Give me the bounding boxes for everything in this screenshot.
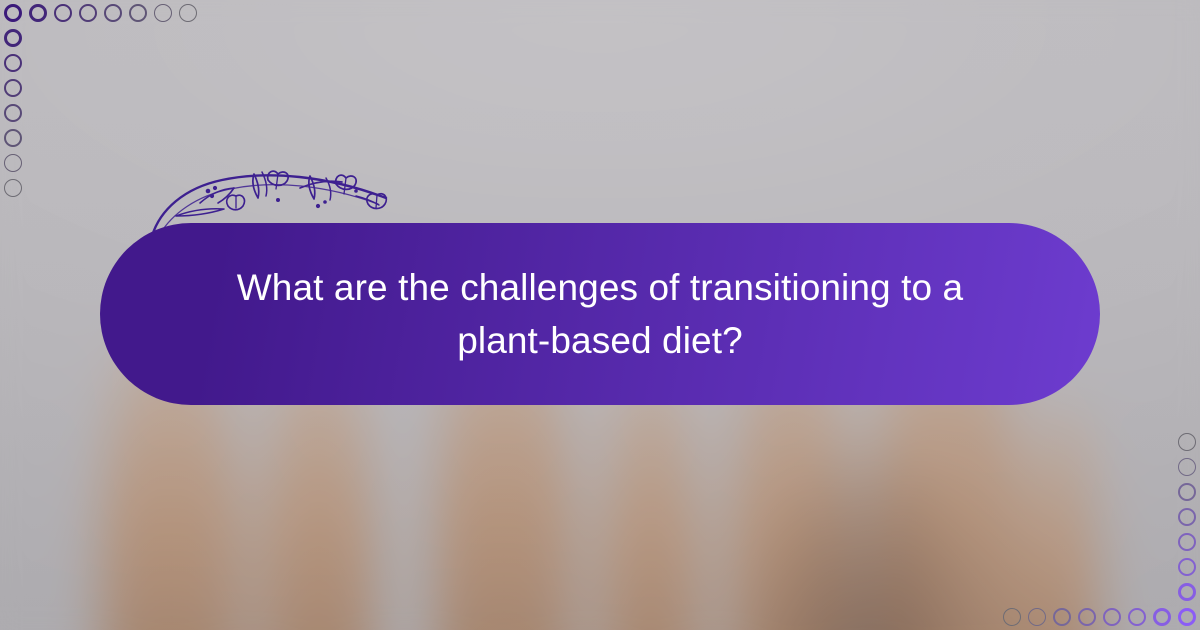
decorative-dot [1178,483,1196,501]
decorative-dot [4,179,22,197]
decorative-dot [1103,608,1121,626]
decorative-dot [4,79,22,97]
decorative-dot [54,4,72,22]
question-banner: What are the challenges of transitioning… [100,223,1100,405]
decorative-dot [4,29,22,47]
decorative-dot [4,104,22,122]
decorative-dot [4,129,22,147]
decorative-dot [1178,558,1196,576]
question-card: What are the challenges of transitioning… [0,0,1200,630]
decorative-dot [1128,608,1146,626]
decorative-dot [1178,433,1196,451]
question-text: What are the challenges of transitioning… [200,261,1000,368]
decorative-dot [1078,608,1096,626]
decorative-dot [129,4,147,22]
decorative-dot [1178,508,1196,526]
decorative-dot [154,4,172,22]
decorative-dot [1178,608,1196,626]
decorative-dot [79,4,97,22]
decorative-dot [1178,533,1196,551]
decorative-dot [1028,608,1046,626]
decorative-dot [29,4,47,22]
decorative-dot [1178,583,1196,601]
decorative-dot [1178,458,1196,476]
decorative-dot [4,154,22,172]
decorative-dot [1153,608,1171,626]
decorative-dot [179,4,197,22]
decorative-dot [104,4,122,22]
decorative-dot [1053,608,1071,626]
decorative-dot [4,4,22,22]
decorative-dot [1003,608,1021,626]
decorative-dot [4,54,22,72]
